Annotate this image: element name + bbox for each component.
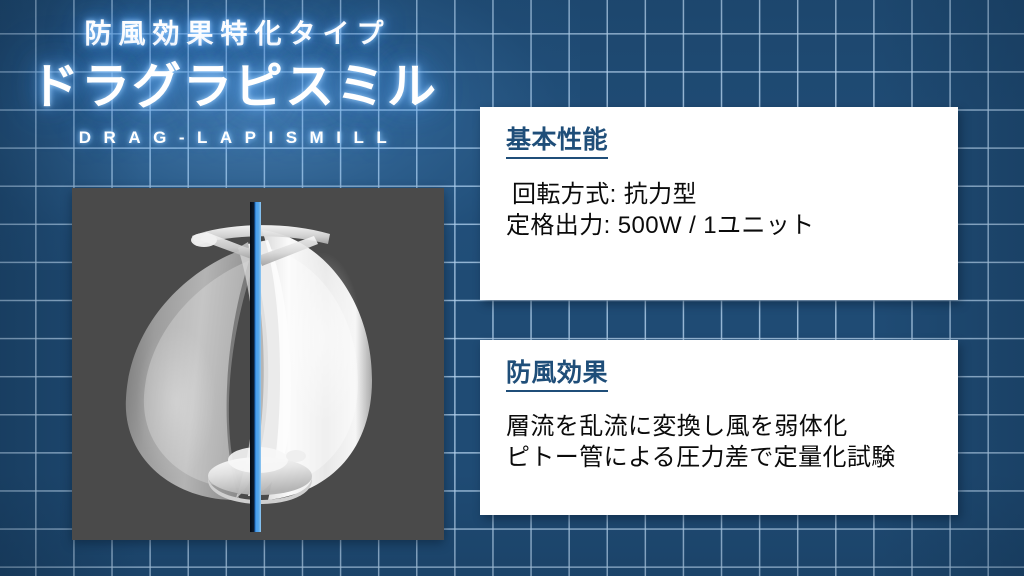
panel-basic-line-1: 回転方式: 抗力型 — [512, 179, 936, 210]
panel-effect-heading: 防風効果 — [506, 358, 608, 392]
panel-basic-performance: 基本性能 回転方式: 抗力型 定格出力: 500W / 1ユニット — [480, 107, 958, 300]
panel-effect-content: 防風効果 層流を乱流に変換し風を弱体化 ピトー管による圧力差で定量化試験 — [480, 340, 958, 474]
panel-basic-line-2: 定格出力: 500W / 1ユニット — [506, 210, 936, 241]
panel-wind-break-effect: 防風効果 層流を乱流に変換し風を弱体化 ピトー管による圧力差で定量化試験 — [480, 340, 958, 515]
wind-turbine-illustration — [72, 188, 444, 540]
panel-basic-heading: 基本性能 — [506, 125, 608, 159]
slide-canvas: 防風効果特化タイプ ドラグラピスミル DRAG-LAPISMILL — [0, 0, 1024, 576]
product-image — [72, 188, 444, 540]
panel-effect-line-2: ピトー管による圧力差で定量化試験 — [506, 442, 936, 473]
panel-basic-content: 基本性能 回転方式: 抗力型 定格出力: 500W / 1ユニット — [480, 107, 958, 242]
panel-effect-line-1: 層流を乱流に変換し風を弱体化 — [506, 411, 936, 442]
